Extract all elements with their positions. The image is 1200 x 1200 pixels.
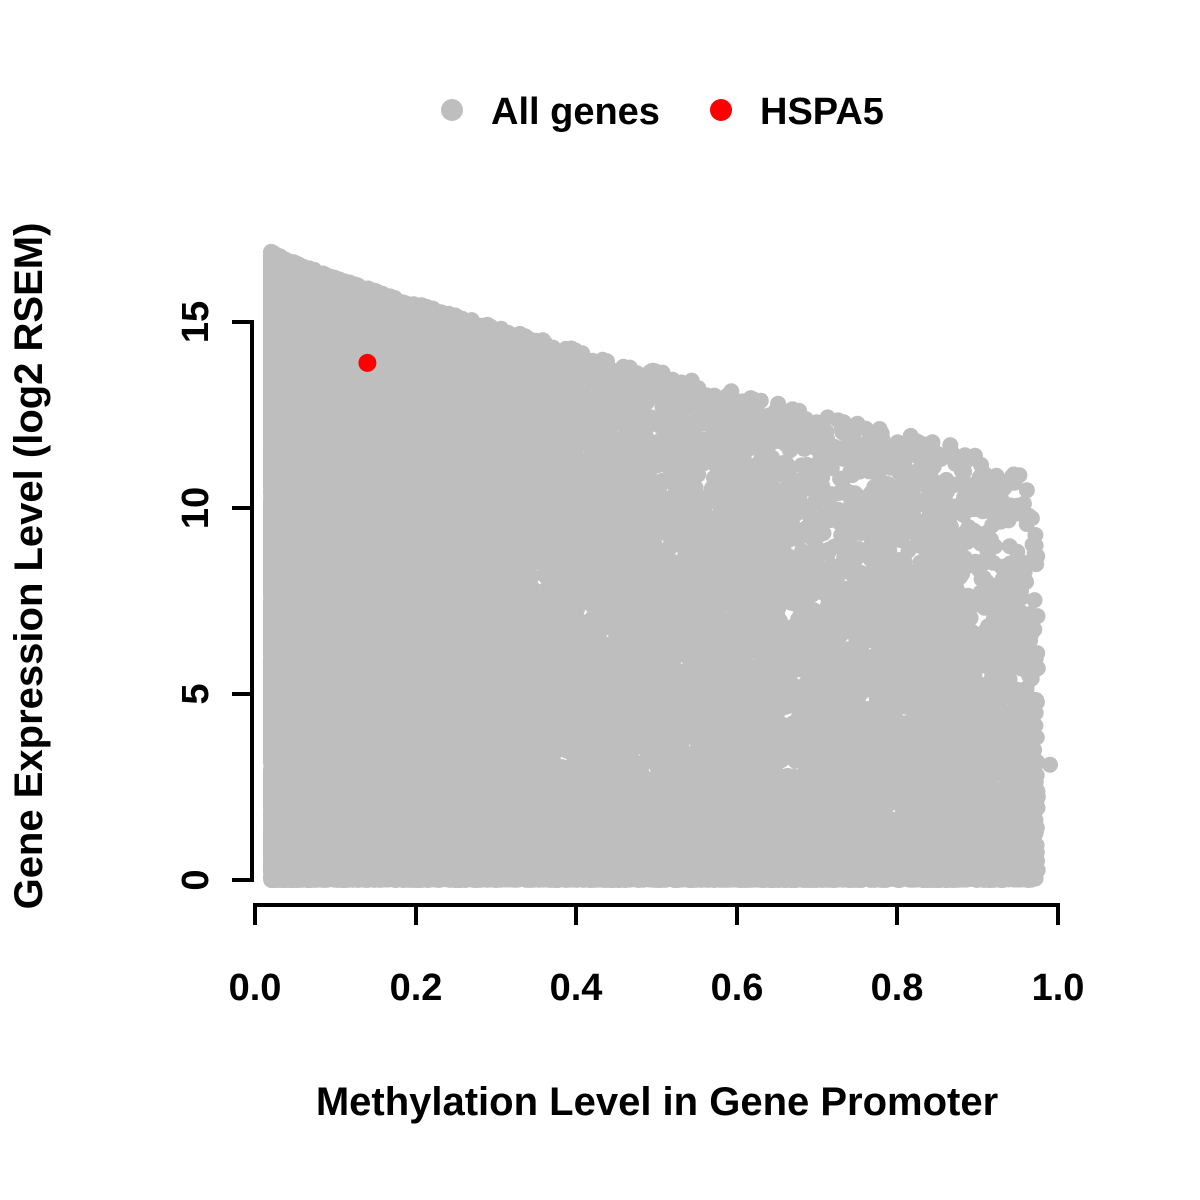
- legend-marker-hspa5: [710, 99, 732, 121]
- y-tick-label-5: 5: [175, 683, 217, 704]
- legend-marker-all-genes: [441, 99, 463, 121]
- x-tick-label-0-2: 0.2: [390, 967, 443, 1009]
- x-tick-label-0-0: 0.0: [229, 967, 282, 1009]
- x-axis-title: Methylation Level in Gene Promoter: [316, 1080, 998, 1124]
- y-axis-title: Gene Expression Level (log2 RSEM): [7, 223, 51, 910]
- y-tick-label-10: 10: [175, 487, 217, 529]
- chart-canvas: 0 5 10 15 0.0 0.2 0.4 0.6 0.8 1.0 Gene E…: [0, 0, 1200, 1200]
- highlight-point-layer: [358, 354, 376, 372]
- scatter-plot-figure: 0 5 10 15 0.0 0.2 0.4 0.6 0.8 1.0 Gene E…: [0, 0, 1200, 1200]
- x-tick-label-0-6: 0.6: [711, 967, 764, 1009]
- y-tick-label-15: 15: [175, 301, 217, 343]
- x-tick-label-0-4: 0.4: [550, 967, 603, 1009]
- legend-label-hspa5: HSPA5: [760, 91, 884, 133]
- legend-label-all-genes: All genes: [491, 91, 660, 133]
- highlight-point-hspa5: [358, 354, 376, 372]
- x-tick-label-1-0: 1.0: [1032, 967, 1085, 1009]
- y-tick-label-0: 0: [175, 869, 217, 890]
- x-tick-label-0-8: 0.8: [871, 967, 924, 1009]
